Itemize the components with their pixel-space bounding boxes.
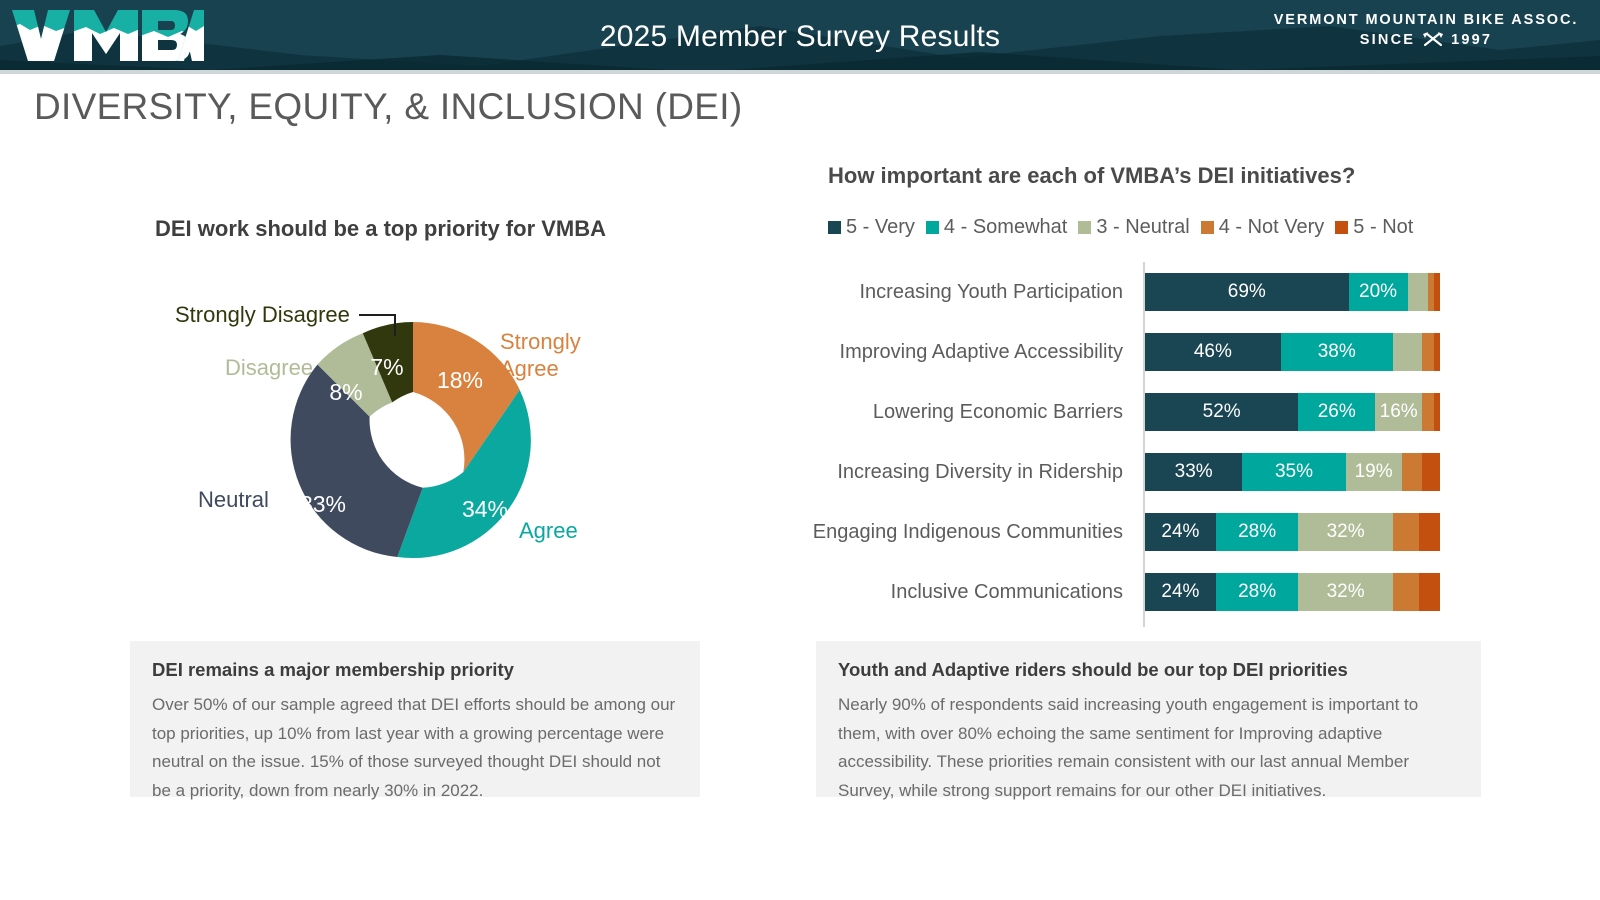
vmba-logo-icon (8, 6, 204, 64)
bar-segment-value: 16% (1380, 401, 1418, 423)
bar-segment[interactable]: 24% (1145, 513, 1216, 551)
bar-row-label: Lowering Economic Barriers (800, 400, 1135, 425)
bar-segment[interactable]: 35% (1242, 453, 1345, 491)
bar-segment[interactable]: 46% (1145, 333, 1281, 371)
bar-segment-value: 28% (1238, 521, 1276, 543)
bar-row: Lowering Economic Barriers52%26%16% (800, 382, 1480, 442)
bar-row-label: Increasing Diversity in Ridership (800, 460, 1135, 485)
bar-segment-value: 46% (1194, 341, 1232, 363)
bar-segment[interactable]: 20% (1349, 273, 1408, 311)
bar-segment[interactable] (1419, 573, 1440, 611)
bar-row: Inclusive Communications24%28%32% (800, 562, 1480, 622)
bar-segment[interactable]: 24% (1145, 573, 1216, 611)
org-since-line: SINCE 1997 (1266, 31, 1586, 48)
bar-segment[interactable]: 28% (1216, 513, 1299, 551)
bar-segment[interactable] (1434, 273, 1440, 311)
org-year: 1997 (1451, 32, 1492, 48)
legend-label: 4 - Somewhat (944, 216, 1067, 239)
legend-swatch-icon (1201, 221, 1214, 234)
bar-segment-value: 33% (1175, 461, 1213, 483)
donut-value-neutral: 33% (300, 491, 346, 517)
legend-item-0[interactable]: 5 - Very (828, 216, 915, 239)
bar-track: 24%28%32% (1145, 573, 1440, 611)
bar-row-label: Improving Adaptive Accessibility (800, 340, 1135, 365)
legend-item-2[interactable]: 3 - Neutral (1078, 216, 1189, 239)
legend-item-4[interactable]: 5 - Not (1335, 216, 1413, 239)
bar-segment[interactable]: 69% (1145, 273, 1349, 311)
bar-segment[interactable]: 32% (1298, 513, 1392, 551)
bar-segment-value: 26% (1318, 401, 1356, 423)
callout-left: DEI remains a major membership priority … (130, 641, 700, 797)
legend-label: 5 - Very (846, 216, 915, 239)
org-since-label: SINCE (1360, 32, 1415, 48)
bar-segment[interactable] (1408, 273, 1429, 311)
bar-track: 52%26%16% (1145, 393, 1440, 431)
bar-segment-value: 28% (1238, 581, 1276, 603)
donut-label-strongly-agree-l1: Strongly (500, 329, 581, 354)
bar-segment[interactable]: 16% (1375, 393, 1422, 431)
bar-segment[interactable] (1422, 333, 1434, 371)
bar-row: Increasing Youth Participation69%20% (800, 262, 1480, 322)
donut-value-disagree: 8% (329, 379, 362, 405)
callout-right-body: Nearly 90% of respondents said increasin… (838, 691, 1459, 805)
legend-swatch-icon (828, 221, 841, 234)
bar-segment[interactable]: 33% (1145, 453, 1242, 491)
bar-segment-value: 24% (1161, 581, 1199, 603)
bar-track: 69%20% (1145, 273, 1440, 311)
bar-row: Improving Adaptive Accessibility46%38% (800, 322, 1480, 382)
page-title: DIVERSITY, EQUITY, & INCLUSION (DEI) (34, 86, 742, 128)
page-header: 2025 Member Survey Results VERMONT MOUNT… (0, 0, 1600, 74)
donut-label-strongly-disagree: Strongly Disagree (175, 302, 350, 328)
bar-segment-value: 69% (1228, 281, 1266, 303)
bar-segment[interactable] (1393, 333, 1423, 371)
bar-segment-value: 52% (1203, 401, 1241, 423)
bar-row: Increasing Diversity in Ridership33%35%1… (800, 442, 1480, 502)
donut-value-strongly-disagree: 7% (370, 354, 403, 380)
callout-right: Youth and Adaptive riders should be our … (816, 641, 1481, 797)
bar-segment-value: 35% (1275, 461, 1313, 483)
donut-label-agree: Agree (519, 518, 578, 544)
donut-chart-title: DEI work should be a top priority for VM… (155, 216, 606, 242)
bar-track: 33%35%19% (1145, 453, 1440, 491)
legend-item-1[interactable]: 4 - Somewhat (926, 216, 1067, 239)
bar-segment[interactable]: 19% (1346, 453, 1402, 491)
donut-value-strongly-agree: 18% (437, 367, 483, 393)
org-name: VERMONT MOUNTAIN BIKE ASSOC. (1266, 12, 1586, 28)
bar-segment[interactable]: 28% (1216, 573, 1299, 611)
bar-track: 24%28%32% (1145, 513, 1440, 551)
org-identity: VERMONT MOUNTAIN BIKE ASSOC. SINCE 1997 (1266, 12, 1586, 48)
legend-swatch-icon (926, 221, 939, 234)
bar-segment[interactable] (1393, 513, 1420, 551)
donut-label-disagree: Disagree (225, 355, 313, 381)
bar-chart-legend: 5 - Very4 - Somewhat3 - Neutral4 - Not V… (828, 216, 1413, 239)
legend-item-3[interactable]: 4 - Not Very (1201, 216, 1325, 239)
bar-segment-value: 24% (1161, 521, 1199, 543)
legend-swatch-icon (1078, 221, 1091, 234)
donut-label-strongly-agree-l2: Agree (500, 356, 559, 381)
bar-segment[interactable] (1434, 393, 1440, 431)
bar-segment-value: 20% (1359, 281, 1397, 303)
bar-segment[interactable] (1419, 513, 1440, 551)
bar-segment[interactable]: 26% (1298, 393, 1375, 431)
legend-swatch-icon (1335, 221, 1348, 234)
donut-value-agree: 34% (462, 496, 508, 522)
bar-segment[interactable]: 52% (1145, 393, 1298, 431)
bar-segment[interactable] (1393, 573, 1420, 611)
bar-chart-title: How important are each of VMBA’s DEI ini… (828, 163, 1355, 189)
callout-right-heading: Youth and Adaptive riders should be our … (838, 659, 1459, 681)
bar-segment[interactable] (1434, 333, 1440, 371)
callout-left-body: Over 50% of our sample agreed that DEI e… (152, 691, 678, 805)
bar-row-label: Engaging Indigenous Communities (800, 520, 1135, 545)
crossed-shovel-pick-icon (1422, 31, 1444, 48)
legend-label: 3 - Neutral (1096, 216, 1189, 239)
bar-segment[interactable]: 38% (1281, 333, 1393, 371)
donut-chart: 18% 34% 33% 8% 7% Strongly Disagree Disa… (130, 260, 730, 620)
legend-label: 4 - Not Very (1219, 216, 1325, 239)
bar-row-label: Inclusive Communications (800, 580, 1135, 605)
callout-left-heading: DEI remains a major membership priority (152, 659, 678, 681)
bar-segment-value: 32% (1327, 581, 1365, 603)
bar-segment[interactable] (1422, 393, 1434, 431)
bar-segment[interactable] (1402, 453, 1423, 491)
bar-chart: Increasing Youth Participation69%20%Impr… (800, 262, 1480, 627)
bar-segment[interactable] (1422, 453, 1440, 491)
bar-row: Engaging Indigenous Communities24%28%32% (800, 502, 1480, 562)
bar-segment-value: 38% (1318, 341, 1356, 363)
bar-track: 46%38% (1145, 333, 1440, 371)
donut-label-strongly-agree: Strongly Agree (500, 328, 581, 382)
vmba-logo (8, 6, 204, 64)
bar-row-label: Increasing Youth Participation (800, 280, 1135, 305)
bar-segment[interactable]: 32% (1298, 573, 1392, 611)
bar-segment-value: 32% (1327, 521, 1365, 543)
legend-label: 5 - Not (1353, 216, 1413, 239)
bar-segment-value: 19% (1355, 461, 1393, 483)
donut-label-neutral: Neutral (198, 487, 269, 513)
